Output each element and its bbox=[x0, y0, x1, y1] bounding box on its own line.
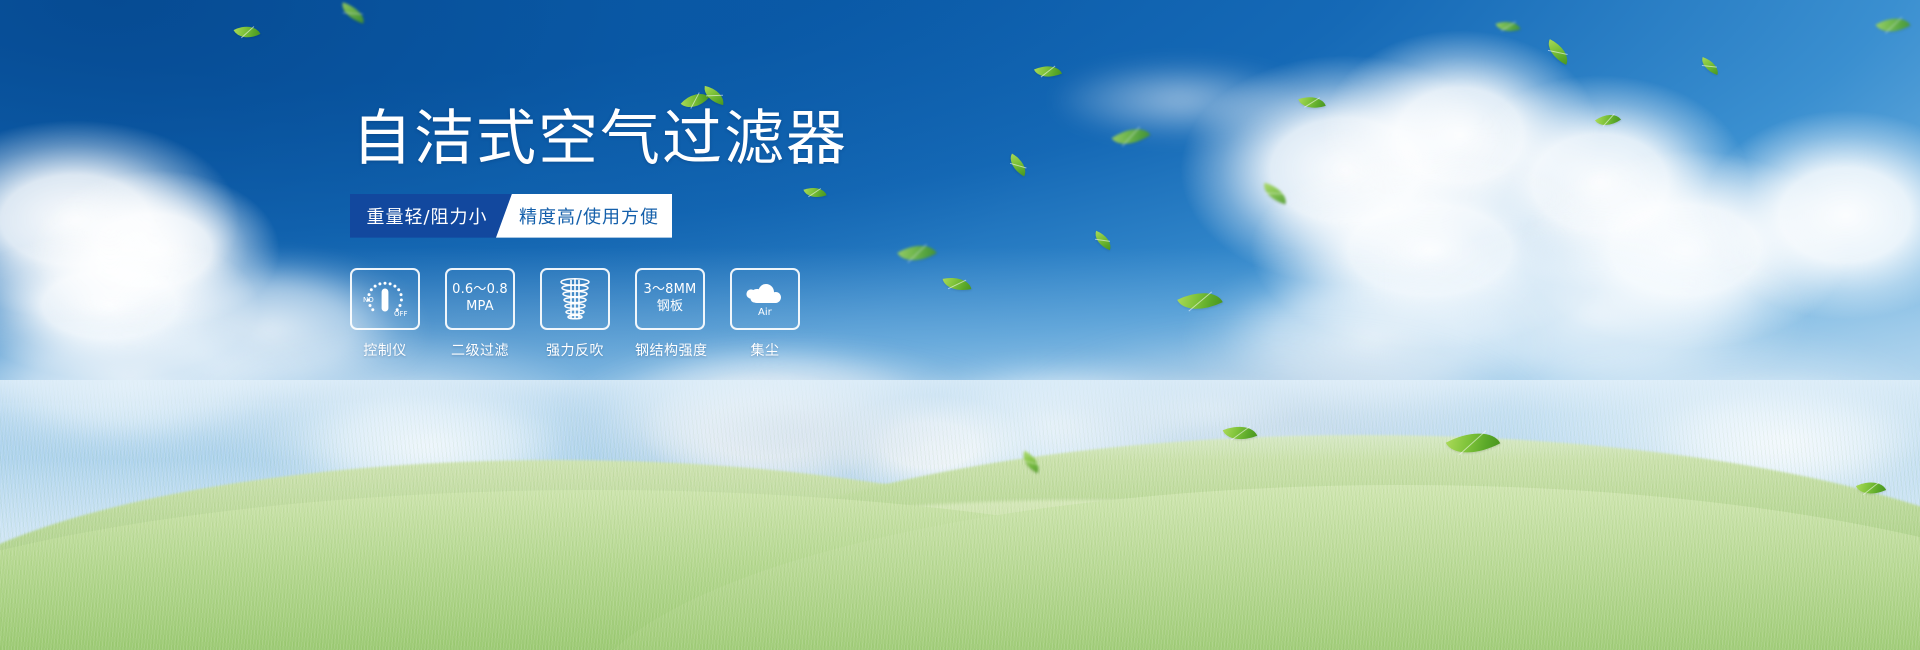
feature-item: Air 集尘 bbox=[730, 268, 800, 360]
feature-item: 3～8MM 钢板 钢结构强度 bbox=[635, 268, 705, 360]
feature-item: 0.6～0.8 MPA 二级过滤 bbox=[445, 268, 515, 360]
air-label: Air bbox=[758, 307, 773, 318]
feature-list: NO OFF 控制仪 0.6～0.8 MPA 二级过滤 bbox=[350, 268, 1110, 360]
product-hero-banner: 自洁式空气过滤器 重量轻/阻力小 精度高/使用方便 bbox=[0, 0, 1920, 650]
dial-label-no: NO bbox=[363, 296, 374, 304]
air-cloud-icon: Air bbox=[740, 277, 790, 321]
pressure-value-line1: 0.6～0.8 bbox=[452, 282, 508, 298]
tagline-badge-secondary: 精度高/使用方便 bbox=[496, 194, 672, 238]
dial-label-off: OFF bbox=[394, 310, 408, 318]
feature-item: 强力反吹 bbox=[540, 268, 610, 360]
page-title: 自洁式空气过滤器 bbox=[352, 108, 1110, 172]
steel-thickness-line2: 钢板 bbox=[657, 299, 683, 315]
control-dial-icon: NO OFF bbox=[359, 277, 411, 321]
feature-icon-box bbox=[540, 268, 610, 330]
pressure-value-line2: MPA bbox=[466, 299, 494, 315]
filter-element-icon bbox=[552, 276, 598, 322]
feature-icon-box: 0.6～0.8 MPA bbox=[445, 268, 515, 330]
feature-icon-box: Air bbox=[730, 268, 800, 330]
tagline-group: 重量轻/阻力小 精度高/使用方便 bbox=[350, 194, 672, 238]
feature-caption: 集尘 bbox=[730, 340, 800, 360]
feature-caption: 强力反吹 bbox=[540, 340, 610, 360]
steel-thickness-line1: 3～8MM bbox=[644, 282, 697, 298]
feature-caption: 钢结构强度 bbox=[635, 340, 705, 360]
feature-icon-box: 3～8MM 钢板 bbox=[635, 268, 705, 330]
feature-item: NO OFF 控制仪 bbox=[350, 268, 420, 360]
banner-content: 自洁式空气过滤器 重量轻/阻力小 精度高/使用方便 bbox=[350, 108, 1110, 360]
feature-caption: 控制仪 bbox=[350, 340, 420, 360]
tagline-badge-primary: 重量轻/阻力小 bbox=[350, 194, 512, 238]
feature-icon-box: NO OFF bbox=[350, 268, 420, 330]
feature-caption: 二级过滤 bbox=[445, 340, 515, 360]
grass-field bbox=[0, 380, 1920, 650]
